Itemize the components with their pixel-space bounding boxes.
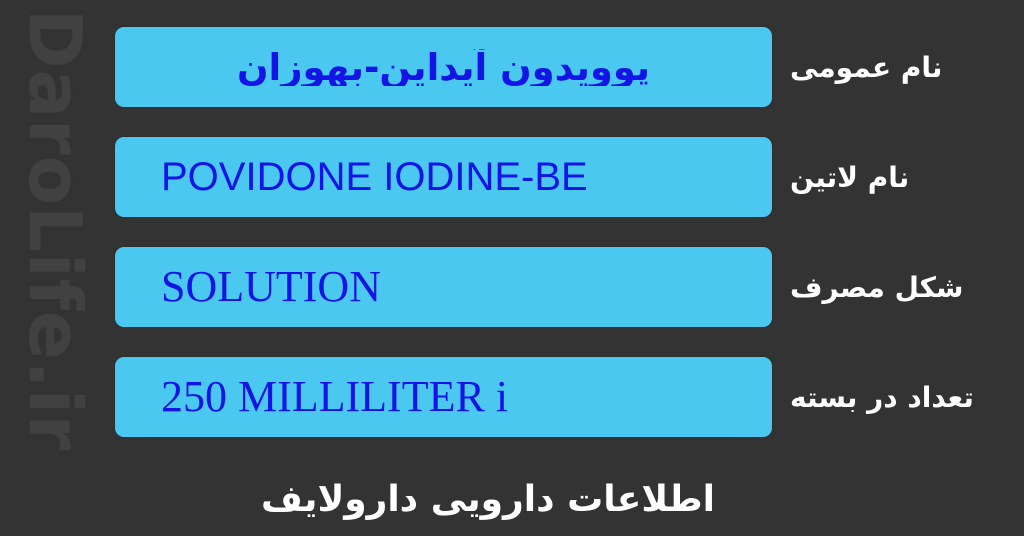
field-row-latin-name: POVIDONE IODINE-BE نام لاتین bbox=[0, 137, 1024, 217]
value-box-package-count[interactable]: 250 MILLILITER i bbox=[115, 357, 772, 437]
value-package-count: 250 MILLILITER i bbox=[115, 375, 772, 419]
value-box-latin-name[interactable]: POVIDONE IODINE-BE bbox=[115, 137, 772, 217]
value-dosage-form: SOLUTION bbox=[115, 265, 772, 309]
label-latin-name: نام لاتین bbox=[790, 137, 1004, 217]
field-row-generic-name: پوویدون آیداین-بهوزان نام عمومی bbox=[0, 27, 1024, 107]
footer: اطلاعات دارویی دارولایف bbox=[0, 462, 1024, 536]
label-dosage-form: شکل مصرف bbox=[790, 247, 1004, 327]
drug-info-card: DaroLife.ir پوویدون آیداین-بهوزان نام عم… bbox=[0, 0, 1024, 536]
footer-text: اطلاعات دارویی دارولایف bbox=[261, 479, 715, 520]
value-box-generic-name[interactable]: پوویدون آیداین-بهوزان bbox=[115, 27, 772, 107]
field-row-dosage-form: SOLUTION شکل مصرف bbox=[0, 247, 1024, 327]
label-generic-name: نام عمومی bbox=[790, 27, 1004, 107]
field-row-package-count: 250 MILLILITER i تعداد در بسته bbox=[0, 357, 1024, 437]
value-generic-name: پوویدون آیداین-بهوزان bbox=[115, 49, 772, 86]
value-latin-name: POVIDONE IODINE-BE bbox=[115, 157, 772, 197]
label-package-count: تعداد در بسته bbox=[790, 357, 1004, 437]
value-box-dosage-form[interactable]: SOLUTION bbox=[115, 247, 772, 327]
